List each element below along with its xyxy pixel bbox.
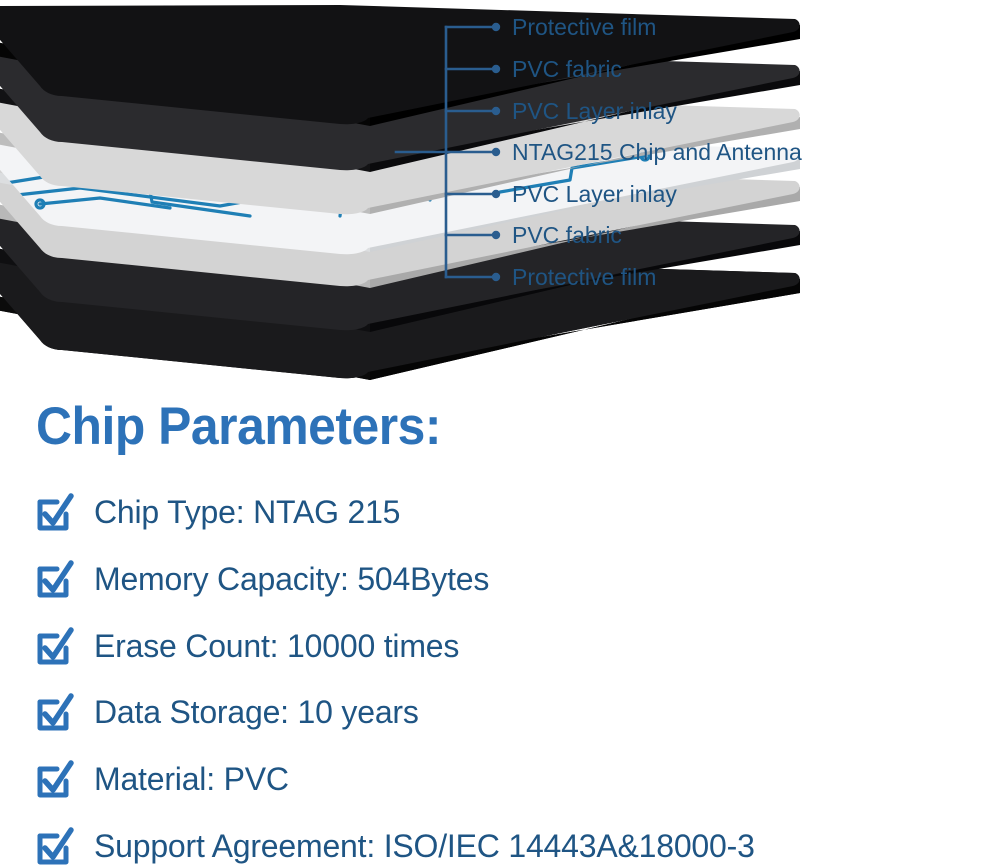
param-label: Material: PVC — [94, 763, 289, 795]
checkbox-checked-icon — [36, 828, 74, 866]
checkbox-checked-icon — [36, 494, 74, 532]
param-row-chip-type: Chip Type: NTAG 215 — [36, 490, 400, 534]
checkbox-checked-icon — [36, 761, 74, 799]
param-row-memory-capacity: Memory Capacity: 504Bytes — [36, 557, 489, 601]
callout-label-protective-film-bot: Protective film — [512, 266, 656, 289]
param-row-material: Material: PVC — [36, 757, 289, 801]
callout-label-pvc-layer-inlay-bot: PVC Layer inlay — [512, 183, 677, 206]
chip-parameters-section: Chip Parameters: Chip Type: NTAG 215 Mem… — [0, 384, 1000, 868]
callout-label-pvc-fabric-bot: PVC fabric — [512, 224, 622, 247]
page-title: Chip Parameters: — [36, 396, 441, 457]
param-row-support-agreement: Support Agreement: ISO/IEC 14443A&18000-… — [36, 824, 755, 868]
checkbox-checked-icon — [36, 628, 74, 666]
callout-label-protective-film-top: Protective film — [512, 16, 656, 39]
param-label: Chip Type: NTAG 215 — [94, 496, 400, 528]
param-row-data-storage: Data Storage: 10 years — [36, 690, 419, 734]
param-label: Memory Capacity: 504Bytes — [94, 563, 489, 595]
callout-label-pvc-fabric-top: PVC fabric — [512, 58, 622, 81]
param-label: Data Storage: 10 years — [94, 696, 419, 728]
param-row-erase-count: Erase Count: 10000 times — [36, 624, 459, 668]
card-layers-diagram: Protective film PVC fabric PVC Layer inl… — [0, 0, 1000, 380]
param-label: Erase Count: 10000 times — [94, 630, 459, 662]
param-label: Support Agreement: ISO/IEC 14443A&18000-… — [94, 830, 755, 862]
callout-label-pvc-layer-inlay-top: PVC Layer inlay — [512, 100, 677, 123]
checkbox-checked-icon — [36, 694, 74, 732]
checkbox-checked-icon — [36, 561, 74, 599]
callout-label-ntag215-chip-antenna: NTAG215 Chip and Antenna — [512, 141, 802, 164]
